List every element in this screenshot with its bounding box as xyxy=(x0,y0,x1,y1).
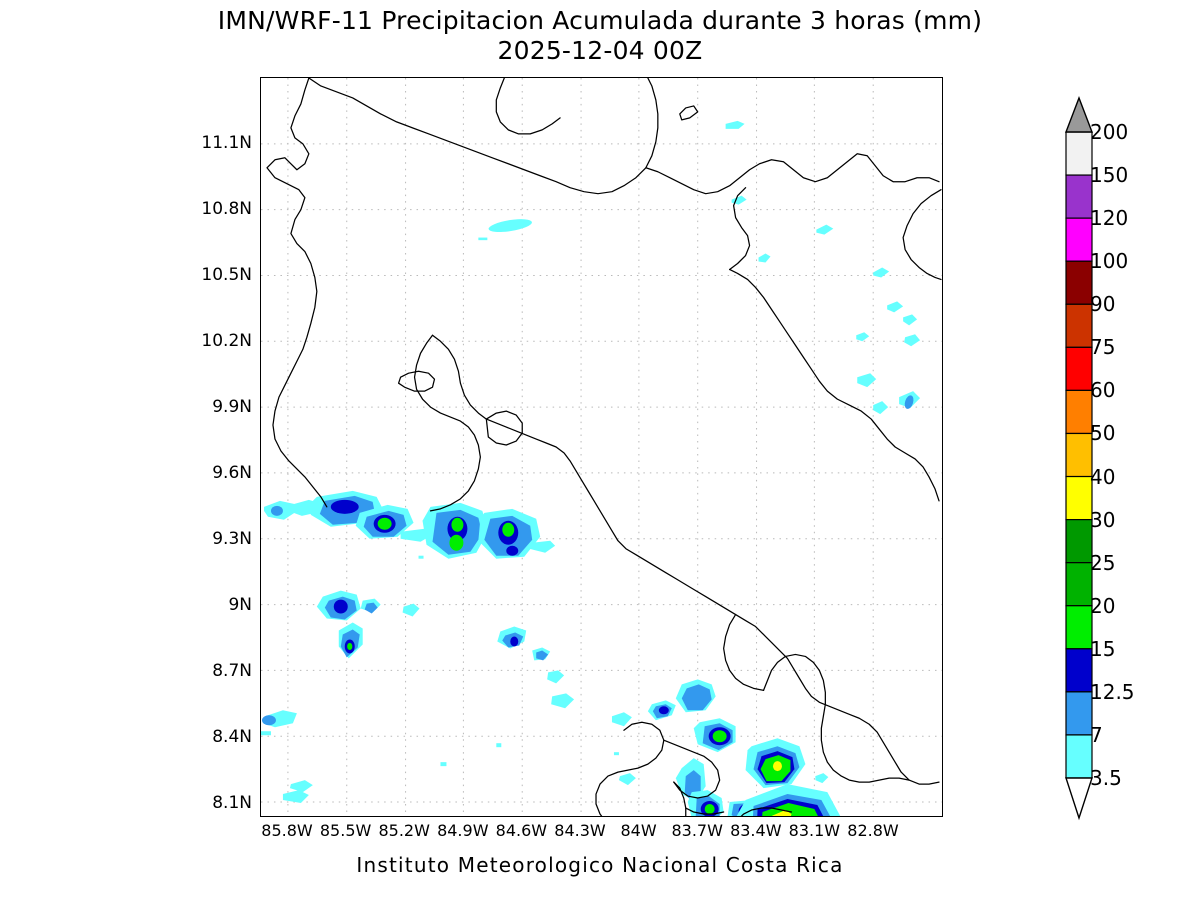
precipitation-map-page: IMN/WRF-11 Precipitacion Acumulada duran… xyxy=(0,0,1200,900)
longitude-tick-label: 83.1W xyxy=(789,821,840,840)
colorbar-band xyxy=(1066,735,1092,778)
latitude-tick-label: 9.9N xyxy=(212,397,252,417)
colorbar-band xyxy=(1066,132,1092,175)
longitude-tick-label: 83.4W xyxy=(730,821,781,840)
colorbar-band xyxy=(1066,218,1092,261)
latitude-tick-label: 10.2N xyxy=(201,331,252,351)
colorbar-tick-label: 60 xyxy=(1090,378,1115,402)
title-line-datetime: 2025-12-04 00Z xyxy=(0,36,1200,66)
colorbar-band xyxy=(1066,563,1092,606)
colorbar-tick-label: 7 xyxy=(1090,723,1103,747)
longitude-tick-label: 84.9W xyxy=(437,821,488,840)
colorbar-under-arrow xyxy=(1066,778,1092,818)
latitude-tick-label: 9.3N xyxy=(212,529,252,549)
colorbar-tick-label: 90 xyxy=(1090,292,1115,316)
colorbar-band xyxy=(1066,433,1092,476)
map-plot-area xyxy=(260,77,943,817)
longitude-tick-label: 84.3W xyxy=(554,821,605,840)
colorbar-band xyxy=(1066,347,1092,390)
footer-attribution: Instituto Meteorologico Nacional Costa R… xyxy=(0,853,1200,877)
title-line-main: IMN/WRF-11 Precipitacion Acumulada duran… xyxy=(0,6,1200,36)
precip-cell-pacific-south-midwest xyxy=(261,591,420,803)
longitude-tick-label: 84.6W xyxy=(496,821,547,840)
colorbar-band xyxy=(1066,304,1092,347)
map-canvas xyxy=(261,78,942,816)
longitude-tick-label: 85.8W xyxy=(261,821,312,840)
colorbar-tick-label: 150 xyxy=(1090,163,1128,187)
colorbar-band xyxy=(1066,175,1092,218)
longitude-tick-label: 83.7W xyxy=(671,821,722,840)
longitude-tick-label: 82.8W xyxy=(847,821,898,840)
colorbar-band xyxy=(1066,261,1092,304)
colorbar-tick-label: 25 xyxy=(1090,551,1115,575)
colorbar-tick-label: 15 xyxy=(1090,637,1115,661)
chart-title: IMN/WRF-11 Precipitacion Acumulada duran… xyxy=(0,6,1200,66)
latitude-tick-label: 10.8N xyxy=(201,199,252,219)
precip-cell-pacific-midchain xyxy=(419,556,632,755)
latitude-tick-label: 8.4N xyxy=(212,727,252,747)
precip-cell-caribbean-north xyxy=(726,121,920,414)
colorbar-band xyxy=(1066,692,1092,735)
longitude-axis-labels: 85.8W85.5W85.2W84.9W84.6W84.3W84W83.7W83… xyxy=(260,821,943,851)
longitude-tick-label: 85.2W xyxy=(378,821,429,840)
colorbar-band xyxy=(1066,606,1092,649)
latitude-tick-label: 9N xyxy=(228,595,252,615)
latitude-axis-labels: 11.1N10.8N10.5N10.2N9.9N9.6N9.3N9N8.7N8.… xyxy=(140,77,252,817)
colorbar-svg xyxy=(1048,96,1108,822)
colorbar-tick-label: 20 xyxy=(1090,594,1115,618)
latitude-tick-label: 10.5N xyxy=(201,265,252,285)
colorbar-tick-label: 200 xyxy=(1090,120,1128,144)
colorbar-bands xyxy=(1066,132,1092,778)
colorbar-tick-label: 120 xyxy=(1090,206,1128,230)
colorbar-over-arrow xyxy=(1066,98,1092,132)
precipitation-contours xyxy=(261,121,920,816)
latitude-tick-label: 8.7N xyxy=(212,661,252,681)
colorbar-tick-label: 40 xyxy=(1090,465,1115,489)
longitude-tick-label: 85.5W xyxy=(320,821,371,840)
colorbar-band xyxy=(1066,477,1092,520)
colorbar-band xyxy=(1066,390,1092,433)
latitude-tick-label: 9.6N xyxy=(212,463,252,483)
coastline-country-borders xyxy=(267,78,941,816)
colorbar-band xyxy=(1066,649,1092,692)
colorbar-tick-label: 100 xyxy=(1090,249,1128,273)
latitude-tick-label: 8.1N xyxy=(212,793,252,813)
precip-cell-pacific-northwest-chain xyxy=(264,491,555,559)
colorbar-legend: 20015012010090756050403025201512.573.5 xyxy=(1048,96,1188,822)
latitude-tick-label: 11.1N xyxy=(201,133,252,153)
colorbar-tick-label: 50 xyxy=(1090,421,1115,445)
precip-cell-nicaragua-lake xyxy=(478,217,532,240)
colorbar-band xyxy=(1066,520,1092,563)
longitude-tick-label: 84W xyxy=(621,821,657,840)
gridlines xyxy=(261,78,942,816)
colorbar-tick-label: 75 xyxy=(1090,335,1115,359)
colorbar-tick-label: 3.5 xyxy=(1090,766,1122,790)
colorbar-tick-label: 12.5 xyxy=(1090,680,1135,704)
colorbar-tick-label: 30 xyxy=(1090,508,1115,532)
